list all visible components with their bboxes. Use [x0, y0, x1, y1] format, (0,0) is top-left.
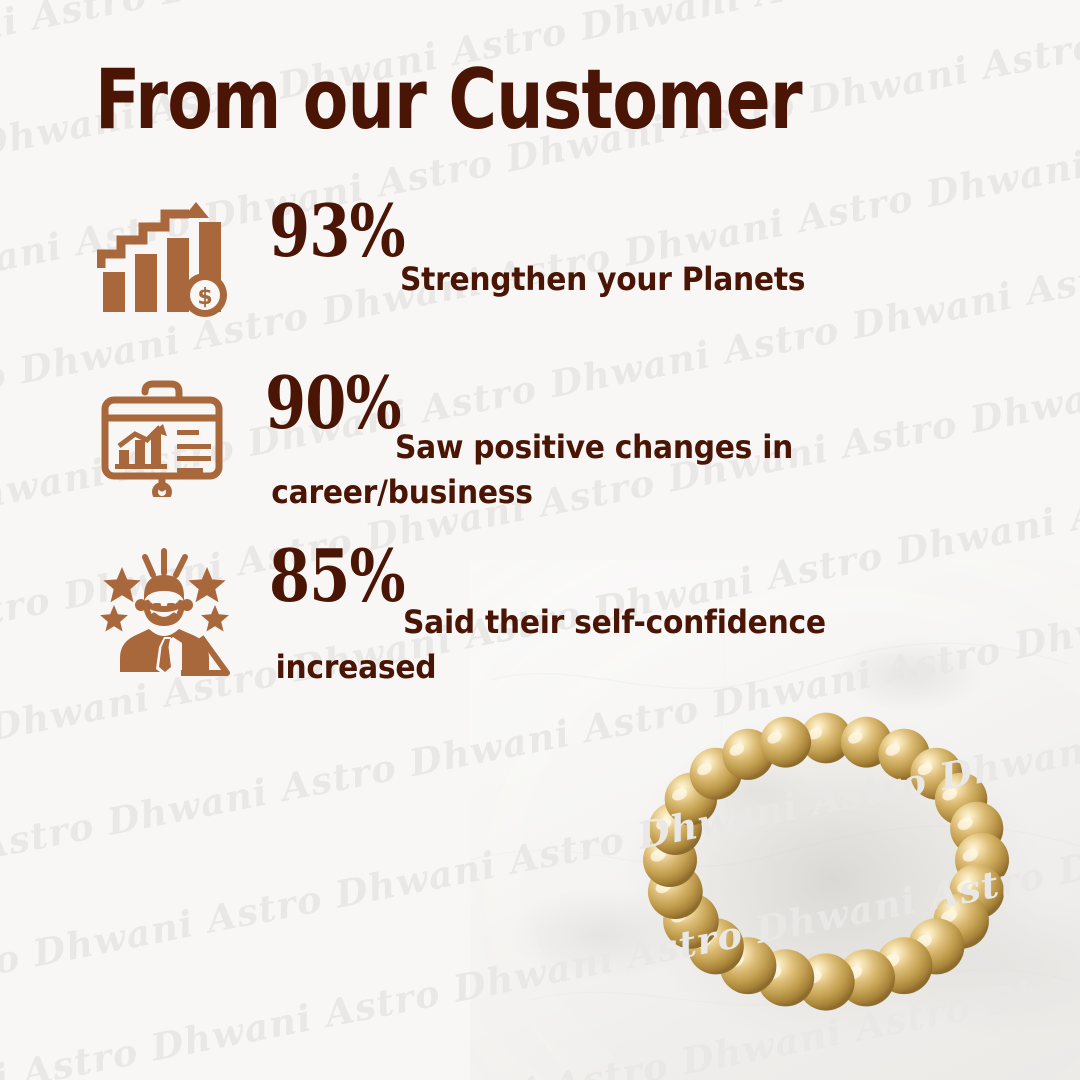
presentation-board-icon	[97, 372, 227, 502]
stat-percent: 90%	[265, 372, 401, 434]
watermark-text: Dhwani Astro Dhwani Astro Dhwani Astro D…	[0, 0, 1080, 55]
svg-text:$: $	[197, 285, 212, 310]
stat-description: Said their self-confidence increased	[403, 603, 826, 642]
stat-description-line1: Said their self-confidence	[403, 603, 826, 641]
stat-percent: 85%	[269, 545, 405, 607]
stat-description: Saw positive changes in career/business	[395, 428, 793, 467]
stat-description-line1: Saw positive changes in	[395, 428, 793, 466]
confident-person-stars-icon	[97, 545, 232, 685]
stat-description-line2: increased	[276, 648, 437, 687]
stat-description-line1: Strengthen your Planets	[400, 260, 805, 298]
bracelet-bead	[760, 717, 811, 768]
stat-description: Strengthen your Planets	[400, 260, 805, 299]
page-title: From our Customer	[95, 58, 802, 141]
stat-description-line2: career/business	[271, 473, 532, 512]
growth-bar-chart-dollar-icon: $	[97, 200, 227, 323]
stat-percent: 93%	[269, 200, 405, 262]
poster-canvas: Dhwani Astro Dhwani Astro Dhwani Astro D…	[0, 0, 1080, 1080]
